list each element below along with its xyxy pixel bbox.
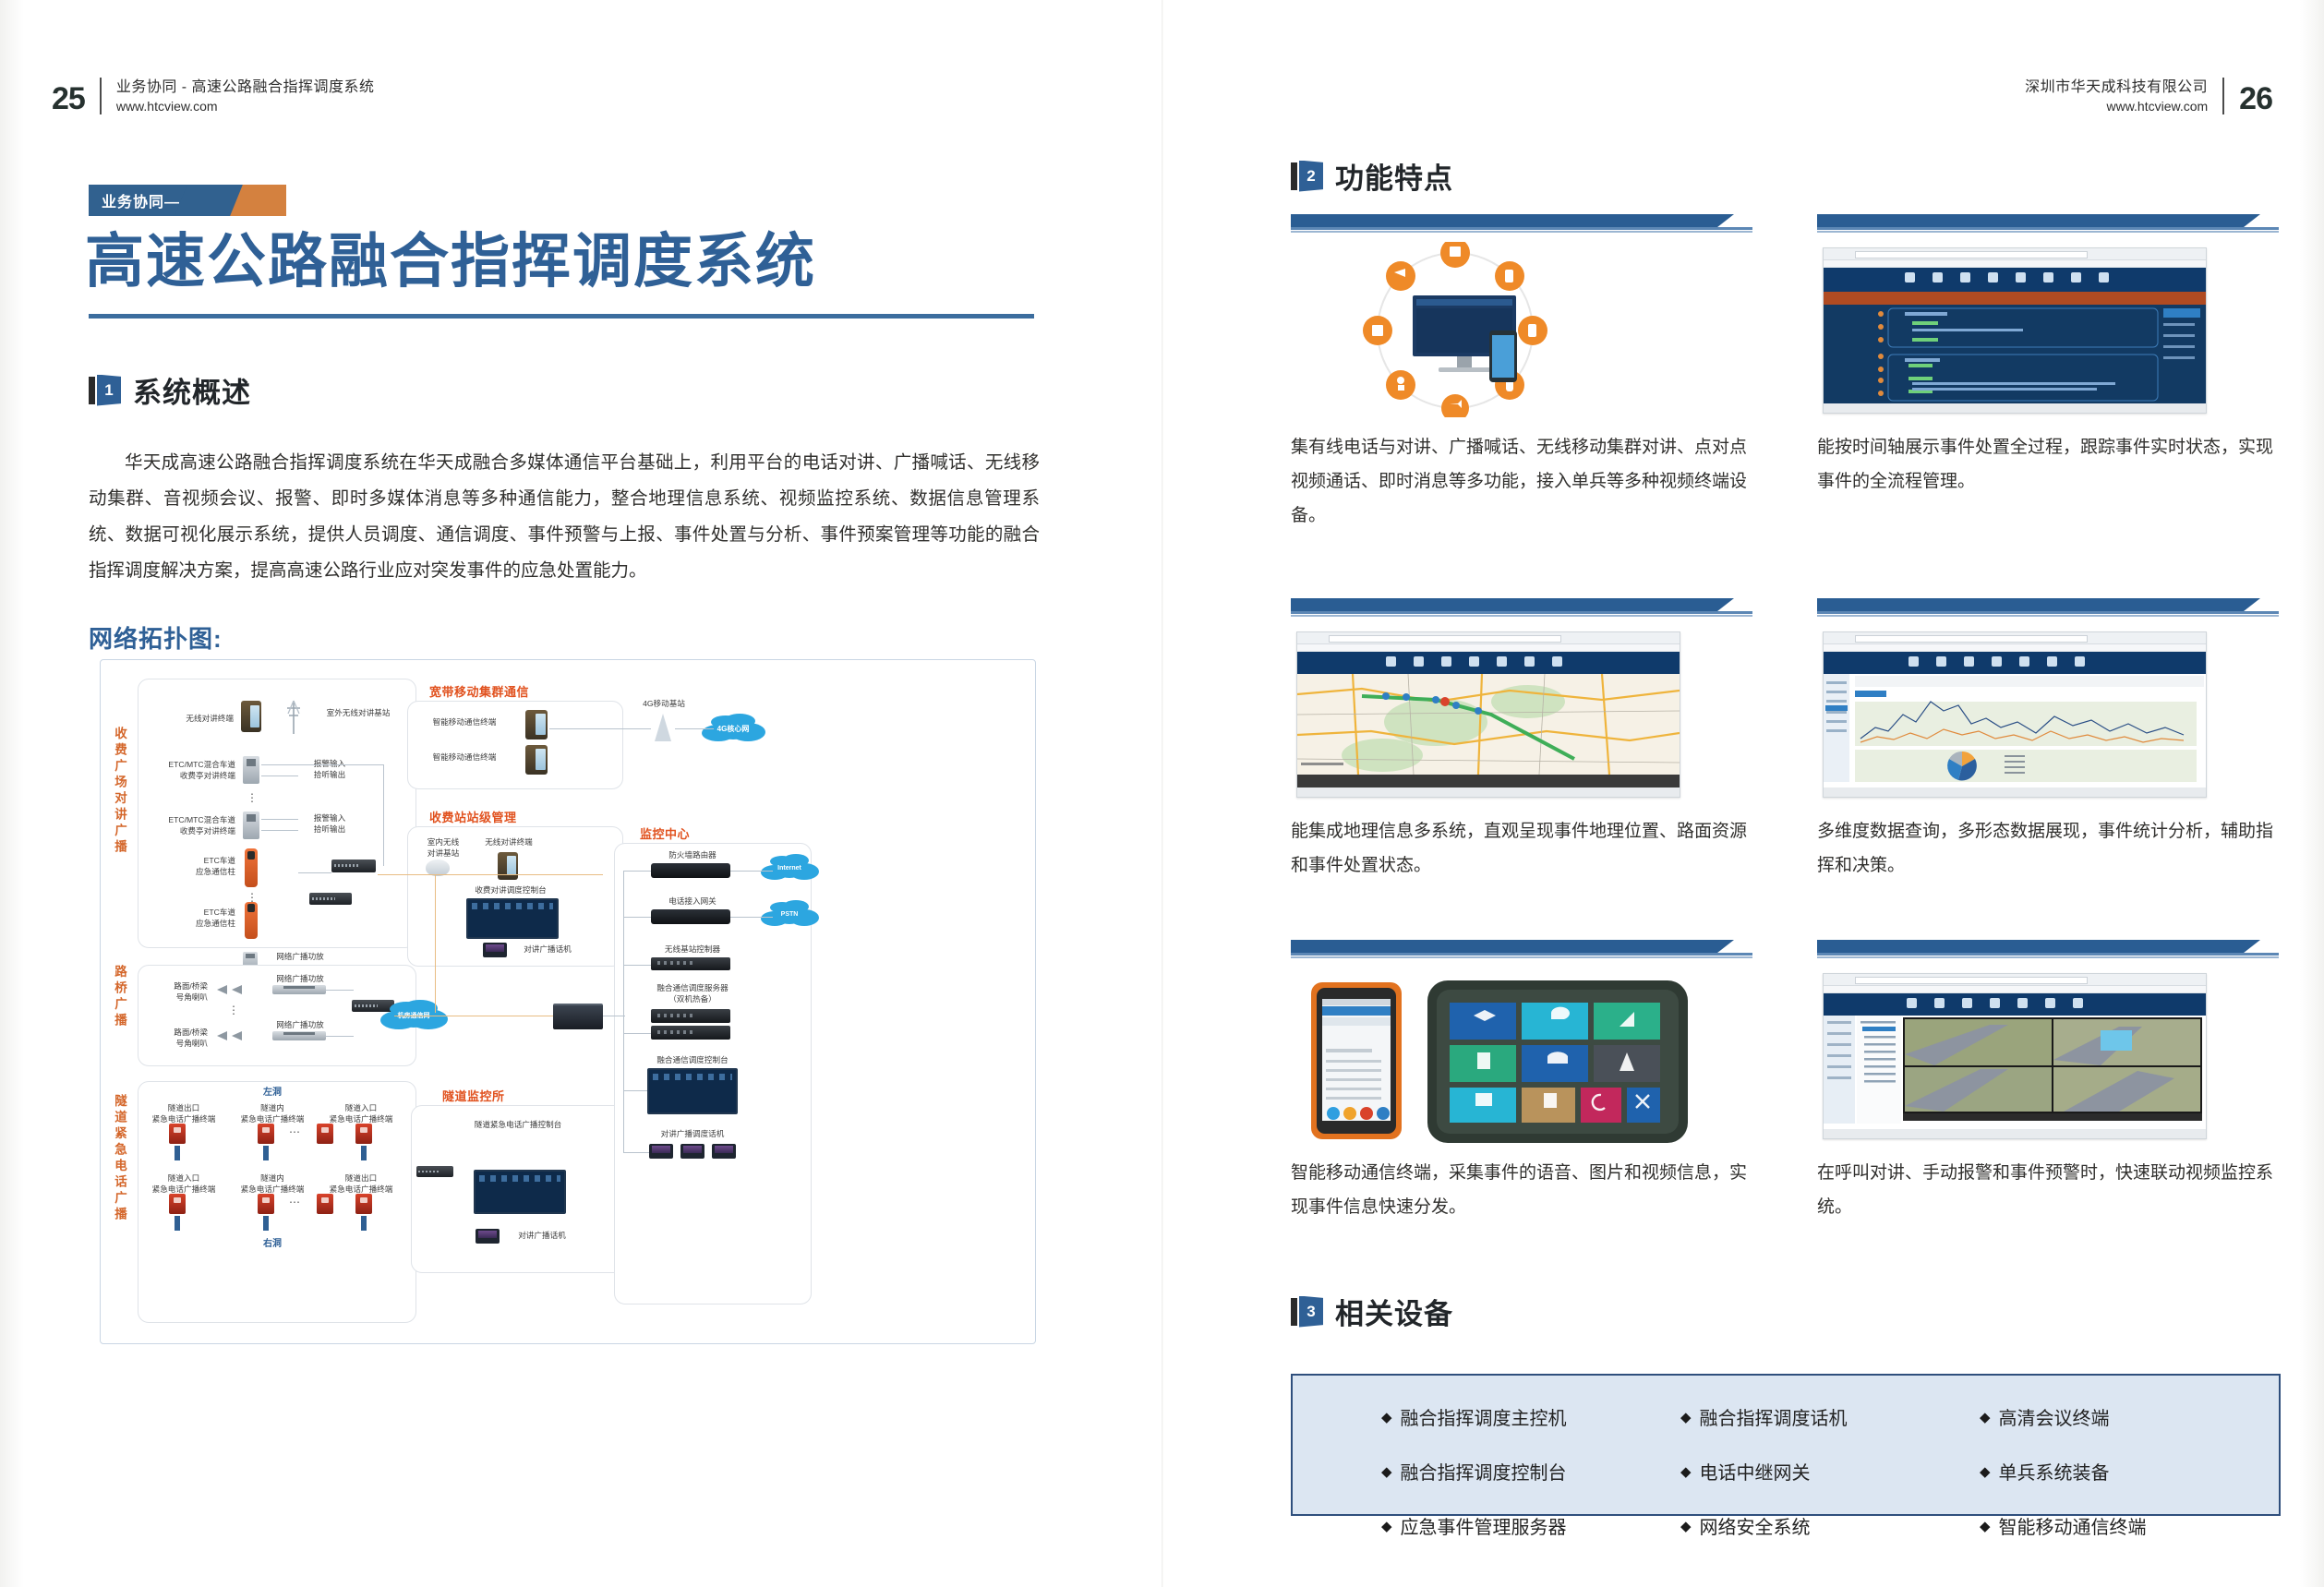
topo-node-tunnel-entry-2: 隧道入口 紧急电话广播终端 xyxy=(147,1173,221,1195)
company-name: 深圳市华天成科技有限公司 xyxy=(2025,78,2208,98)
diamond-bullet-icon: ◆ xyxy=(1980,1409,1991,1425)
topo-icon-handheld-radio xyxy=(241,701,261,732)
diamond-bullet-icon: ◆ xyxy=(1980,1463,1991,1480)
topo-group-label-center: 监控中心 xyxy=(640,824,690,842)
equipment-label: 融合指挥调度话机 xyxy=(1700,1403,1848,1430)
topo-node-tunnel-inside-1: 隧道内 紧急电话广播终端 xyxy=(235,1103,309,1124)
feature-image-timeline-screenshot xyxy=(1817,242,2279,417)
topo-icon-firewall-router xyxy=(651,863,730,878)
topo-cloud-internet: Internet xyxy=(773,858,806,878)
page-edge-left xyxy=(0,0,24,1587)
topo-node-intercom-phone-toll: 对讲广播话机 xyxy=(511,944,584,956)
topo-node-etc-booth-1: ETC/MTC混合车道 收费亭对讲终端 xyxy=(141,760,235,781)
screenshot-cctv xyxy=(1823,973,2207,1139)
equipment-label: 网络安全系统 xyxy=(1700,1512,1811,1539)
section-number-3: 3 xyxy=(1299,1296,1323,1328)
topo-node-alarm-input-2: 报警输入 xyxy=(302,813,357,824)
topo-icon-intercom-1 xyxy=(243,756,259,784)
topo-node-phone-gateway: 电话接入网关 xyxy=(632,896,753,908)
feature-caption-4: 多维度数据查询，多形态数据展现，事件统计分析，辅助指挥和决策。 xyxy=(1817,814,2279,883)
diamond-bullet-icon: ◆ xyxy=(1381,1463,1392,1480)
topo-icon-switch-station xyxy=(309,893,352,905)
card-bar-2 xyxy=(1817,214,2279,234)
topo-icon-outdoor-base-station xyxy=(283,699,304,740)
topo-icon-intercom-phone-tunnel xyxy=(476,1229,500,1244)
head-url-left: www.htcview.com xyxy=(116,98,375,115)
section-title-2: 功能特点 xyxy=(1335,155,1453,197)
screenshot-dashboard xyxy=(1823,631,2207,798)
topo-node-dispatch-servers: 融合通信调度服务器 （双机热备） xyxy=(632,983,753,1004)
diamond-bullet-icon: ◆ xyxy=(1680,1518,1692,1534)
topo-node-dispatch-phones: 对讲广播调度话机 xyxy=(632,1129,753,1140)
equipment-item: ◆融合指挥调度主控机 xyxy=(1381,1403,1680,1430)
page-number-right: 26 xyxy=(2239,83,2272,114)
topo-icon-4g-tower xyxy=(655,714,671,741)
section-heading-overview: 1 系统概述 xyxy=(89,369,251,411)
topo-icon-emergency-pillar-1 xyxy=(245,848,258,887)
topo-icon-emergency-phone-3 xyxy=(317,1124,333,1144)
topo-vlabel-toll-plaza: 收费广场对讲广播 xyxy=(110,727,128,856)
topo-vlabel-tunnel: 隧道紧急电话广播 xyxy=(110,1094,128,1223)
topo-icon-emergency-pillar-2 xyxy=(245,902,258,939)
topo-icon-emergency-phone-8 xyxy=(355,1194,372,1214)
topo-icon-dispatch-console xyxy=(466,898,559,939)
diamond-bullet-icon: ◆ xyxy=(1381,1409,1392,1425)
topo-icon-amplifier-1 xyxy=(272,985,326,994)
screenshot-gis-map xyxy=(1296,631,1680,798)
card-bar-3 xyxy=(1291,598,1752,619)
topo-icon-radio-terminal xyxy=(498,852,518,880)
head-breadcrumb-left: 业务协同 - 高速公路融合指挥调度系统 xyxy=(116,78,375,98)
brochure-spread: 25 业务协同 - 高速公路融合指挥调度系统 www.htcview.com 深… xyxy=(0,0,2324,1587)
feature-image-cctv-screenshot xyxy=(1817,968,2279,1143)
title-underline xyxy=(89,314,1034,319)
topo-icon-dispatch-phone-1 xyxy=(649,1144,673,1159)
topo-icon-emergency-phone-6 xyxy=(258,1194,274,1214)
page-edge-right xyxy=(2300,0,2324,1587)
topo-icon-dispatch-phone-3 xyxy=(712,1144,736,1159)
topo-node-network-amp-2: 网络广播功放 xyxy=(263,1020,337,1031)
diamond-bullet-icon: ◆ xyxy=(1980,1518,1991,1534)
topo-icon-tunnel-console xyxy=(474,1170,566,1214)
topo-label-right-tunnel: 右洞 xyxy=(245,1238,300,1251)
topo-node-smart-mobile-1: 智能移动通信终端 xyxy=(415,717,514,728)
equipment-label: 融合指挥调度控制台 xyxy=(1401,1458,1567,1485)
diamond-bullet-icon: ◆ xyxy=(1680,1463,1692,1480)
diamond-bullet-icon: ◆ xyxy=(1381,1518,1392,1534)
page-gutter xyxy=(1162,0,1163,1587)
section-heading-features: 2 功能特点 xyxy=(1291,155,1453,197)
equipment-item: ◆电话中继网关 xyxy=(1680,1458,1980,1485)
topo-icon-center-console xyxy=(647,1068,738,1114)
topo-node-horn-2: 路面/桥梁 号角喇叭 xyxy=(141,1028,208,1049)
topo-icon-bs-controller xyxy=(651,957,730,970)
topo-node-4g-base: 4G移动基站 xyxy=(627,699,701,710)
equipment-label: 电话中继网关 xyxy=(1700,1458,1811,1485)
topo-icon-amplifier-2 xyxy=(272,1031,326,1040)
card-bar-5 xyxy=(1291,940,1752,960)
topo-node-indoor-base: 室内无线 对讲基站 xyxy=(418,837,468,859)
card-bar-4 xyxy=(1817,598,2279,619)
topo-node-tunnel-inside-2: 隧道内 紧急电话广播终端 xyxy=(235,1173,309,1195)
topo-icon-emergency-phone-1 xyxy=(169,1124,186,1144)
section-number-badge-2: 2 xyxy=(1291,161,1322,192)
card-bar-6 xyxy=(1817,940,2279,960)
topo-vlabel-road-bridge: 路桥广播 xyxy=(110,965,128,1029)
head-divider-left xyxy=(100,78,102,114)
feature-card-video-linkage: 在呼叫对讲、手动报警和事件预警时，快速联动视频监控系统。 xyxy=(1817,940,2279,1224)
feature-card-gis: 能集成地理信息多系统，直观呈现事件地理位置、路面资源和事件处置状态。 xyxy=(1291,598,1752,883)
topo-node-toll-console: 收费对讲调度控制台 xyxy=(455,885,566,896)
feature-image-rugged-devices xyxy=(1291,968,1752,1143)
network-topology-diagram: 收费广场对讲广播 路桥广播 隧道紧急电话广播 无线对讲终端 室外无线对讲基站 E… xyxy=(100,659,1036,1344)
topo-node-network-amp-1: 网络广播功放 xyxy=(263,974,337,985)
topo-group-label-broadband: 宽带移动集群通信 xyxy=(429,682,529,700)
topo-node-bs-controller: 无线基站控制器 xyxy=(632,944,753,956)
topo-label-left-tunnel: 左洞 xyxy=(245,1087,300,1100)
feature-caption-6: 在呼叫对讲、手动报警和事件预警时，快速联动视频监控系统。 xyxy=(1817,1156,2279,1224)
equipment-label: 高清会议终端 xyxy=(1999,1403,2110,1430)
feature-card-event-timeline: 能按时间轴展示事件处置全过程，跟踪事件实时状态，实现事件的全流程管理。 xyxy=(1817,214,2279,499)
topology-heading: 网络拓扑图: xyxy=(89,620,223,655)
topo-node-listen-output-2: 拾听输出 xyxy=(302,824,357,836)
feature-card-fusion-comm: 集有线电话与对讲、广播喊话、无线移动集群对讲、点对点视频通话、即时消息等多功能，… xyxy=(1291,214,1752,533)
equipment-item: ◆智能移动通信终端 xyxy=(1980,1512,2279,1539)
topo-icon-dispatch-server-2 xyxy=(651,1026,730,1040)
topo-cloud-4g-core: 4G核心网 xyxy=(714,717,753,739)
equipment-label: 应急事件管理服务器 xyxy=(1401,1512,1567,1539)
topo-node-etc-booth-2: ETC/MTC混合车道 收费亭对讲终端 xyxy=(141,815,235,836)
topo-icon-emergency-phone-7 xyxy=(317,1194,333,1214)
topo-node-smart-mobile-2: 智能移动通信终端 xyxy=(415,752,514,763)
topo-node-tunnel-entry-1: 隧道入口 紧急电话广播终端 xyxy=(324,1103,398,1124)
equipment-label: 单兵系统装备 xyxy=(1999,1458,2110,1485)
topo-icon-phone-gateway xyxy=(651,909,730,924)
feature-image-hub-diagram xyxy=(1291,242,1752,417)
section-title-1: 系统概述 xyxy=(133,369,251,411)
topo-node-etc-pillar-1: ETC车道 应急通信柱 xyxy=(145,856,235,877)
equipment-label: 智能移动通信终端 xyxy=(1999,1512,2147,1539)
section-heading-equipment: 3 相关设备 xyxy=(1291,1291,1453,1332)
section-number-badge-1: 1 xyxy=(89,375,120,406)
topo-node-wireless-terminal: 无线对讲终端 xyxy=(145,714,234,725)
equipment-label: 融合指挥调度主控机 xyxy=(1401,1403,1567,1430)
topo-icon-emergency-phone-2 xyxy=(258,1124,274,1144)
topo-node-center-console: 融合通信调度控制台 xyxy=(632,1055,753,1066)
topo-node-tunnel-exit-1: 隧道出口 紧急电话广播终端 xyxy=(147,1103,221,1124)
equipment-list-box: ◆融合指挥调度主控机 ◆融合指挥调度话机 ◆高清会议终端 ◆融合指挥调度控制台 … xyxy=(1291,1374,2281,1516)
topo-icon-intercom-phone-toll xyxy=(483,943,507,957)
topo-icon-intercom-2 xyxy=(243,812,259,839)
feature-caption-5: 智能移动通信终端，采集事件的语音、图片和视频信息，实现事件信息快速分发。 xyxy=(1291,1156,1752,1224)
head-url-right: www.htcview.com xyxy=(2025,98,2208,115)
topo-node-network-amp-0: 网络广播功放 xyxy=(263,952,337,963)
topo-icon-dispatch-server-1 xyxy=(651,1009,730,1023)
topo-node-radio-terminal: 无线对讲终端 xyxy=(479,837,538,848)
topo-icon-switch-tunnel xyxy=(416,1166,453,1177)
category-tag: 业务协同— xyxy=(89,185,286,216)
diamond-bullet-icon: ◆ xyxy=(1680,1409,1692,1425)
running-head-left: 25 业务协同 - 高速公路融合指挥调度系统 www.htcview.com xyxy=(52,78,375,114)
equipment-item: ◆网络安全系统 xyxy=(1680,1512,1980,1539)
overview-paragraph: 华天成高速公路融合指挥调度系统在华天成融合多媒体通信平台基础上，利用平台的电话对… xyxy=(89,445,1040,589)
topo-icon-dispatch-phone-2 xyxy=(680,1144,704,1159)
topo-node-tunnel-console-label: 隧道紧急电话广播控制台 xyxy=(426,1120,610,1131)
feature-image-dashboard-screenshot xyxy=(1817,626,2279,801)
topo-node-firewall-router: 防火墙路由器 xyxy=(632,850,753,861)
topo-icon-switch-toll xyxy=(331,860,376,872)
topo-icon-smart-terminal-2 xyxy=(525,745,548,775)
topo-node-intercom-phone-tunnel: 对讲广播话机 xyxy=(505,1231,579,1242)
section-number-2: 2 xyxy=(1299,161,1323,192)
equipment-item: ◆融合指挥调度话机 xyxy=(1680,1403,1980,1430)
topo-group-label-tunnel-hall: 隧道监控所 xyxy=(442,1087,505,1104)
page-number-left: 25 xyxy=(52,83,85,114)
topo-icon-smart-terminal-1 xyxy=(525,710,548,739)
screenshot-timeline xyxy=(1823,247,2207,414)
card-bar-1 xyxy=(1291,214,1752,234)
topo-node-tunnel-exit-2: 隧道出口 紧急电话广播终端 xyxy=(324,1173,398,1195)
topo-icon-core-switch xyxy=(553,1004,603,1029)
feature-image-map-screenshot xyxy=(1291,626,1752,801)
topo-node-outdoor-base-label: 室外无线对讲基站 xyxy=(307,708,409,719)
topo-group-broadband xyxy=(407,701,623,789)
equipment-item: ◆融合指挥调度控制台 xyxy=(1381,1458,1680,1485)
feature-card-analytics: 多维度数据查询，多形态数据展现，事件统计分析，辅助指挥和决策。 xyxy=(1817,598,2279,883)
equipment-item: ◆单兵系统装备 xyxy=(1980,1458,2279,1485)
topo-node-etc-pillar-2: ETC车道 应急通信柱 xyxy=(145,908,235,929)
topo-cloud-pstn: PSTN xyxy=(773,904,806,924)
feature-caption-1: 集有线电话与对讲、广播喊话、无线移动集群对讲、点对点视频通话、即时消息等多功能，… xyxy=(1291,430,1752,533)
running-head-right: 深圳市华天成科技有限公司 www.htcview.com 26 xyxy=(2025,78,2272,114)
section-number-badge-3: 3 xyxy=(1291,1296,1322,1328)
page-title: 高速公路融合指挥调度系统 xyxy=(85,231,816,293)
section-number-1: 1 xyxy=(97,375,121,406)
topo-icon-switch-road xyxy=(352,1000,394,1012)
feature-caption-3: 能集成地理信息多系统，直观呈现事件地理位置、路面资源和事件处置状态。 xyxy=(1291,814,1752,883)
feature-caption-2: 能按时间轴展示事件处置全过程，跟踪事件实时状态，实现事件的全流程管理。 xyxy=(1817,430,2279,499)
head-divider-right xyxy=(2222,78,2224,114)
feature-card-mobile-terminal: 智能移动通信终端，采集事件的语音、图片和视频信息，实现事件信息快速分发。 xyxy=(1291,940,1752,1224)
topo-node-horn-1: 路面/桥梁 号角喇叭 xyxy=(141,981,208,1003)
topo-icon-emergency-phone-4 xyxy=(355,1124,372,1144)
topo-group-label-toll-station: 收费站站级管理 xyxy=(429,808,517,825)
equipment-item: ◆高清会议终端 xyxy=(1980,1403,2279,1430)
equipment-item: ◆应急事件管理服务器 xyxy=(1381,1512,1680,1539)
topo-icon-emergency-phone-5 xyxy=(169,1194,186,1214)
section-title-3: 相关设备 xyxy=(1335,1291,1453,1332)
topo-node-listen-output-1: 拾听输出 xyxy=(302,770,357,781)
